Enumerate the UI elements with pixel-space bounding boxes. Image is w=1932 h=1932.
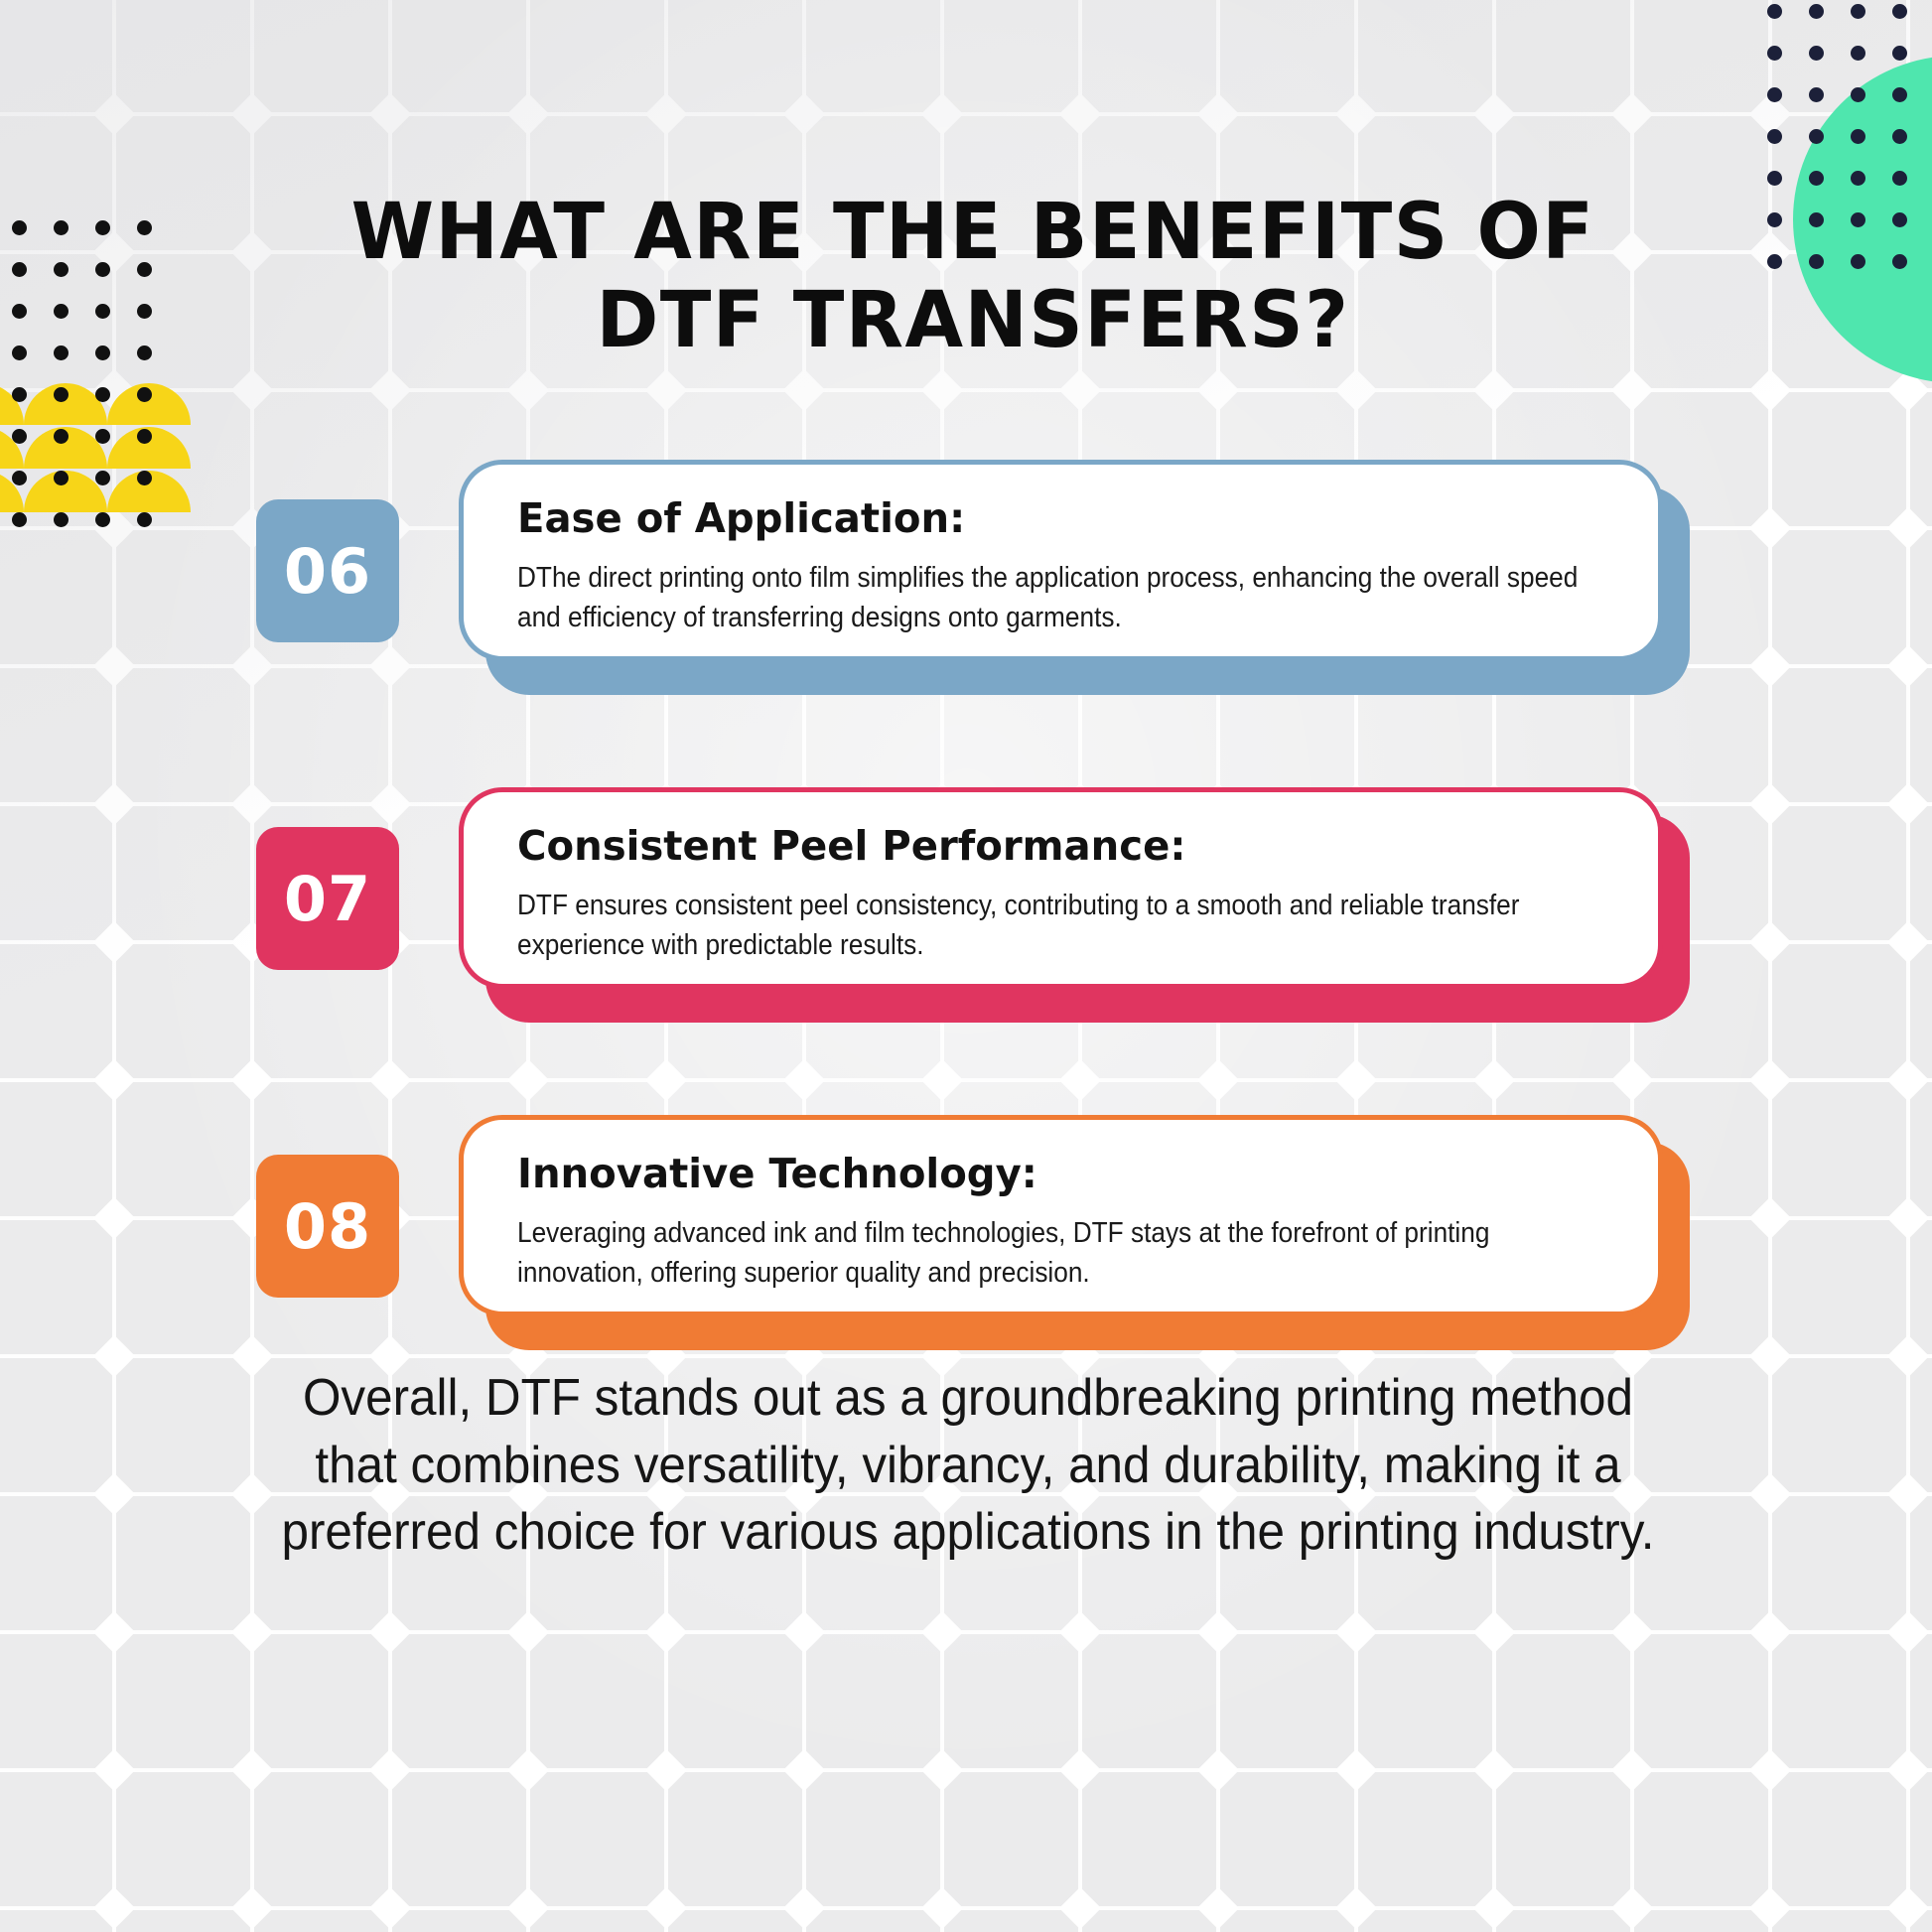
decorative-dot — [1767, 254, 1782, 269]
benefit-card-list: 06 Ease of Application: DThe direct prin… — [0, 452, 1932, 1435]
decorative-dot — [95, 304, 110, 319]
card-body: DTF ensures consistent peel consistency,… — [517, 886, 1615, 966]
decorative-dot — [1851, 129, 1865, 144]
decorative-dot — [137, 512, 152, 527]
decorative-dot — [95, 512, 110, 527]
decorative-dot — [1851, 4, 1865, 19]
decorative-dot — [1809, 212, 1824, 227]
decorative-dot — [95, 471, 110, 485]
decorative-dot — [137, 262, 152, 277]
decorative-dot — [1851, 171, 1865, 186]
benefit-card-06[interactable]: Ease of Application: DThe direct printin… — [459, 460, 1663, 661]
decorative-dot — [1767, 129, 1782, 144]
decorative-dot — [137, 387, 152, 402]
decorative-dot — [1809, 129, 1824, 144]
badge-number: 08 — [284, 1190, 371, 1263]
card-body: DThe direct printing onto film simplifie… — [517, 558, 1615, 638]
benefit-row: 07 Consistent Peel Performance: DTF ensu… — [0, 779, 1932, 1045]
decorative-dot — [12, 262, 27, 277]
decorative-dot — [1851, 212, 1865, 227]
decorative-dot — [1767, 212, 1782, 227]
decorative-dot — [137, 220, 152, 235]
decorative-dot — [54, 387, 69, 402]
decorative-dot — [1809, 254, 1824, 269]
badge-07: 07 — [256, 827, 399, 970]
decorative-dot — [1851, 46, 1865, 61]
decorative-dot — [1892, 254, 1907, 269]
decorative-dot — [95, 387, 110, 402]
decorative-dot — [1892, 212, 1907, 227]
benefit-row: 08 Innovative Technology: Leveraging adv… — [0, 1107, 1932, 1373]
dot-grid-top-right — [1767, 4, 1932, 296]
decorative-dot — [1767, 171, 1782, 186]
decorative-dot — [1809, 171, 1824, 186]
decorative-dot — [12, 387, 27, 402]
decorative-dot — [95, 429, 110, 444]
decorative-dot — [12, 304, 27, 319]
card-heading: Innovative Technology: — [517, 1150, 1590, 1197]
decorative-dot — [95, 220, 110, 235]
decorative-dot — [1892, 4, 1907, 19]
decorative-dot — [137, 471, 152, 485]
dot-grid-top-left — [12, 220, 179, 554]
decorative-dot — [12, 345, 27, 360]
decorative-dot — [1892, 46, 1907, 61]
decorative-dot — [54, 471, 69, 485]
decorative-dot — [1767, 46, 1782, 61]
card-heading: Ease of Application: — [517, 494, 1590, 542]
decorative-dot — [1892, 171, 1907, 186]
decorative-dot — [1851, 254, 1865, 269]
decorative-dot — [12, 512, 27, 527]
decorative-dot — [1809, 87, 1824, 102]
badge-06: 06 — [256, 499, 399, 642]
badge-08: 08 — [256, 1155, 399, 1298]
benefit-row: 06 Ease of Application: DThe direct prin… — [0, 452, 1932, 718]
decorative-dot — [1809, 46, 1824, 61]
benefit-card-08[interactable]: Innovative Technology: Leveraging advanc… — [459, 1115, 1663, 1316]
decorative-dot — [54, 262, 69, 277]
decorative-dot — [95, 345, 110, 360]
decorative-dot — [54, 220, 69, 235]
decorative-dot — [12, 471, 27, 485]
decorative-dot — [1892, 129, 1907, 144]
decorative-dot — [54, 429, 69, 444]
decorative-dot — [1809, 4, 1824, 19]
decorative-dot — [95, 262, 110, 277]
summary-paragraph: Overall, DTF stands out as a groundbreak… — [275, 1365, 1662, 1567]
decorative-dot — [137, 304, 152, 319]
decorative-dot — [1767, 4, 1782, 19]
card-heading: Consistent Peel Performance: — [517, 822, 1590, 870]
decorative-dot — [12, 220, 27, 235]
benefit-card-07[interactable]: Consistent Peel Performance: DTF ensures… — [459, 787, 1663, 989]
decorative-dot — [54, 512, 69, 527]
decorative-dot — [1851, 87, 1865, 102]
decorative-dot — [54, 304, 69, 319]
badge-number: 07 — [284, 863, 371, 935]
badge-number: 06 — [284, 535, 371, 608]
card-body: Leveraging advanced ink and film technol… — [517, 1213, 1615, 1294]
decorative-dot — [12, 429, 27, 444]
decorative-dot — [1767, 87, 1782, 102]
decorative-dot — [137, 429, 152, 444]
decorative-dot — [54, 345, 69, 360]
decorative-dot — [137, 345, 152, 360]
decorative-dot — [1892, 87, 1907, 102]
page-title: WHAT ARE THE BENEFITS OF DTF TRANSFERS? — [260, 189, 1686, 365]
